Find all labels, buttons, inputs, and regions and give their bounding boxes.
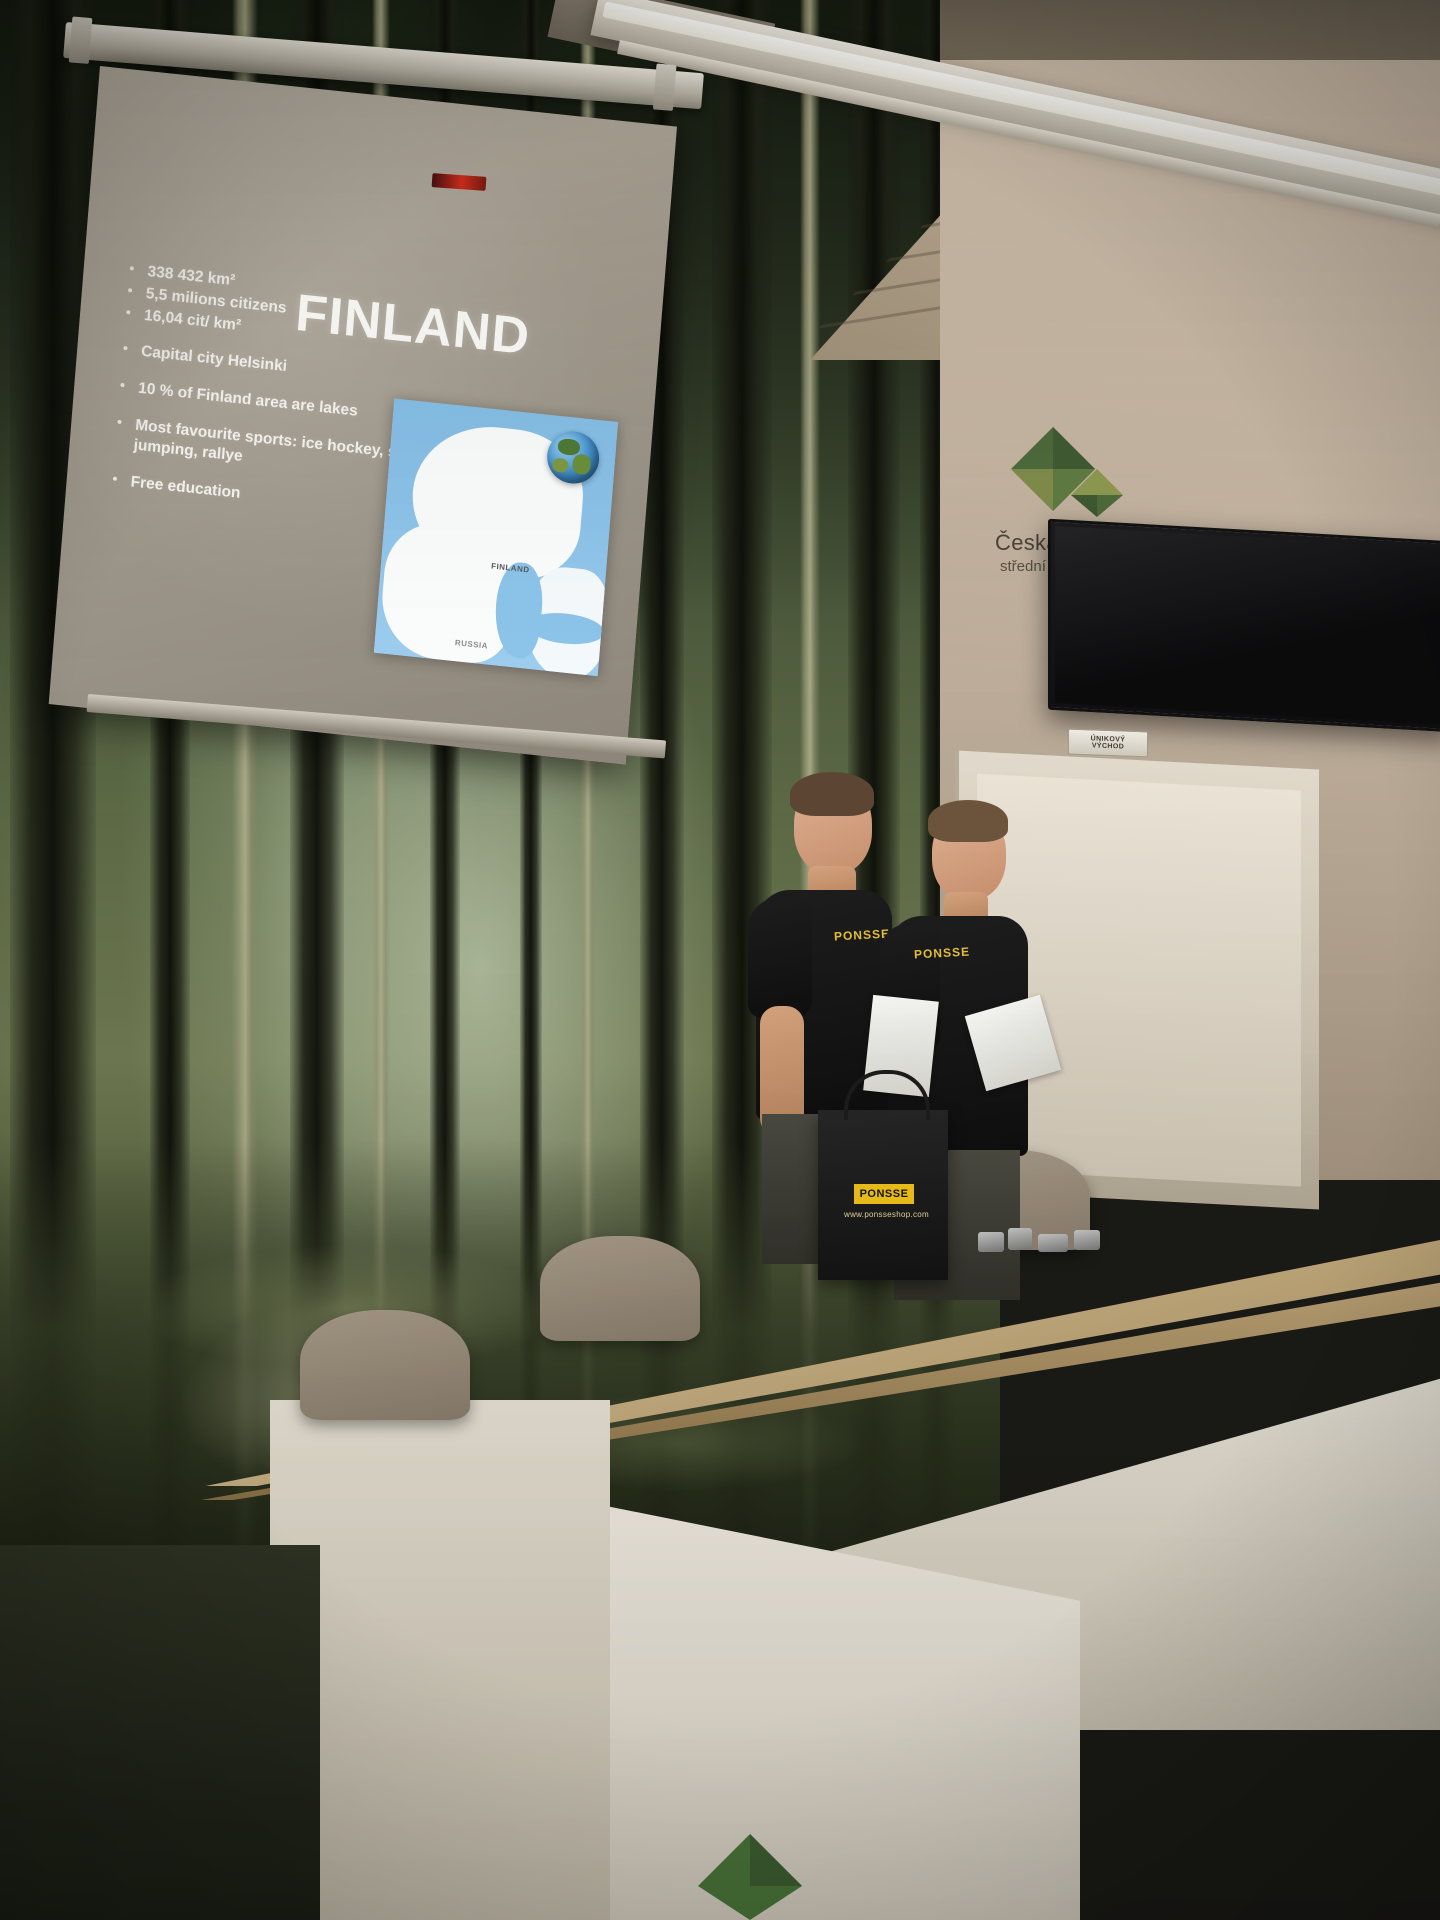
finland-map-image: FINLAND RUSSIA [374, 398, 618, 676]
counter-side-panel [270, 1400, 610, 1920]
floor-dark-area [0, 1545, 320, 1920]
chair [300, 1310, 470, 1420]
tv-screen [1055, 526, 1440, 725]
diamond-logo-icon [1005, 425, 1127, 517]
exit-sign: ÚNIKOVÝ VÝCHOD [1068, 729, 1148, 758]
photo-scene: FINLAND 338 432 km² 5,5 milions citizens… [0, 0, 1440, 1920]
bag-brand-text: PONSSE [860, 1188, 909, 1200]
presentation-slide: FINLAND 338 432 km² 5,5 milions citizens… [49, 66, 677, 765]
floor-diamond-logo-icon [690, 1830, 810, 1920]
wall-mounted-tv[interactable] [1048, 519, 1440, 733]
chair [540, 1236, 700, 1341]
org-name-line2: střední [1000, 558, 1046, 575]
bag-brand-badge: PONSSE [854, 1184, 914, 1204]
shirt-brand-right: PONSSE [914, 945, 971, 962]
ponsse-shopping-bag: PONSSE www.ponsseshop.com [818, 1110, 948, 1280]
bag-url-text: www.ponsseshop.com [844, 1210, 929, 1219]
keys-on-desk [978, 1226, 1124, 1260]
projection-screen: FINLAND 338 432 km² 5,5 milions citizens… [49, 66, 677, 765]
exit-sign-line2: VÝCHOD [1092, 742, 1124, 750]
